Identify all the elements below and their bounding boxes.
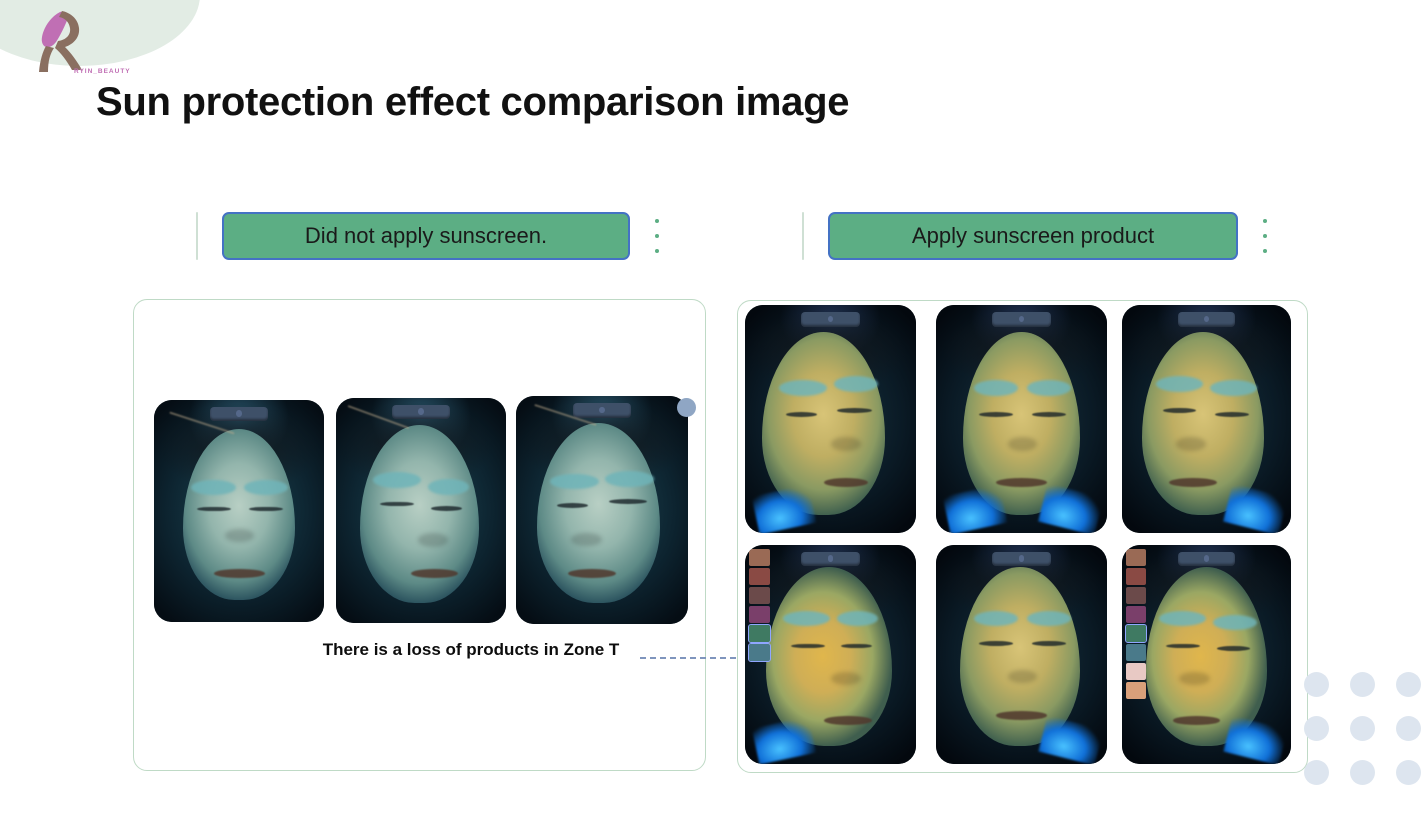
decorative-dot-grid (1304, 672, 1426, 804)
thumbnail-item[interactable] (1126, 587, 1146, 604)
thumbnail-item[interactable] (1126, 549, 1146, 566)
right-photo-2[interactable] (936, 305, 1107, 533)
thumbnail-item-selected[interactable] (749, 625, 770, 642)
nose-region (418, 533, 449, 547)
grid-dot (1350, 760, 1375, 785)
accent-dot (677, 398, 696, 417)
thumbnail-item[interactable] (749, 568, 770, 585)
right-brow (837, 611, 878, 626)
left-brow (1156, 376, 1203, 392)
mouth-region (824, 716, 872, 725)
right-brow (605, 471, 653, 487)
right-column-label-button[interactable]: Apply sunscreen product (828, 212, 1238, 260)
left-eye (1163, 408, 1197, 413)
photo-thumbnail-strip[interactable] (1126, 549, 1146, 699)
left-column-label-button[interactable]: Did not apply sunscreen. (222, 212, 630, 260)
right-photo-1[interactable] (745, 305, 916, 533)
head-clip-icon (1178, 312, 1235, 327)
nose-region (225, 529, 254, 542)
mouth-region (214, 569, 265, 578)
left-photo-3[interactable] (516, 396, 688, 624)
head-clip-icon (210, 407, 268, 421)
thumbnail-item[interactable] (749, 587, 770, 604)
nose-region (1008, 437, 1037, 451)
grid-dot (1396, 716, 1421, 741)
left-photo-2[interactable] (336, 398, 506, 623)
thumbnail-item[interactable] (1126, 644, 1146, 661)
left-column-header: Did not apply sunscreen. (196, 212, 666, 260)
page-title: Sun protection effect comparison image (96, 80, 849, 125)
head-clip-icon (573, 403, 631, 418)
nose-region (1008, 670, 1037, 683)
left-photo-1[interactable] (154, 400, 324, 622)
thumbnail-item[interactable] (749, 606, 770, 623)
right-eye (1217, 646, 1251, 651)
left-header-rule (196, 212, 198, 260)
grid-dot (1396, 672, 1421, 697)
photo-thumbnail-strip[interactable] (749, 549, 770, 661)
left-brow (373, 472, 421, 488)
thumbnail-item[interactable] (1126, 568, 1146, 585)
left-brow (783, 611, 831, 626)
right-photo-3[interactable] (1122, 305, 1291, 533)
grid-dot (1304, 672, 1329, 697)
right-header-rule (802, 212, 804, 260)
thumbnail-item-selected[interactable] (749, 644, 770, 661)
head-clip-icon (801, 552, 859, 566)
left-brow (974, 611, 1018, 626)
grid-dot (1350, 716, 1375, 741)
grid-dot (1304, 760, 1329, 785)
thumbnail-item[interactable] (749, 549, 770, 566)
left-brow (1159, 611, 1206, 626)
thumbnail-item-selected[interactable] (1126, 625, 1146, 642)
mouth-region (1173, 716, 1220, 725)
nose-region (831, 437, 862, 451)
left-brow (550, 474, 598, 490)
right-photo-5[interactable] (936, 545, 1107, 764)
right-column-header: Apply sunscreen product (802, 212, 1274, 260)
right-photo-4[interactable] (745, 545, 916, 764)
head-clip-icon (992, 312, 1050, 327)
head-clip-icon (801, 312, 859, 327)
grid-dot (1304, 716, 1329, 741)
head-clip-icon (992, 552, 1050, 566)
logo-wordmark: RYIN_BEAUTY (74, 68, 131, 75)
right-brow (1027, 611, 1071, 626)
head-clip-icon (1178, 552, 1235, 566)
right-brow (834, 376, 878, 392)
right-eye (837, 408, 871, 413)
right-eye (609, 499, 647, 504)
head-clip-icon (392, 405, 450, 420)
left-caption: There is a loss of products in Zone T (318, 640, 624, 661)
mouth-region (411, 569, 459, 578)
right-kebab-menu-icon[interactable] (1256, 219, 1274, 253)
nose-region (1179, 672, 1209, 685)
thumbnail-item[interactable] (1126, 682, 1146, 699)
nose-region (1176, 437, 1206, 451)
grid-dot (1396, 760, 1421, 785)
ryin-beauty-logo: RYIN_BEAUTY (24, 6, 110, 80)
right-photo-6[interactable] (1122, 545, 1291, 764)
left-kebab-menu-icon[interactable] (648, 219, 666, 253)
right-eye (431, 506, 462, 511)
thumbnail-item[interactable] (1126, 606, 1146, 623)
thumbnail-item[interactable] (1126, 663, 1146, 680)
grid-dot (1350, 672, 1375, 697)
right-brow (428, 479, 469, 495)
